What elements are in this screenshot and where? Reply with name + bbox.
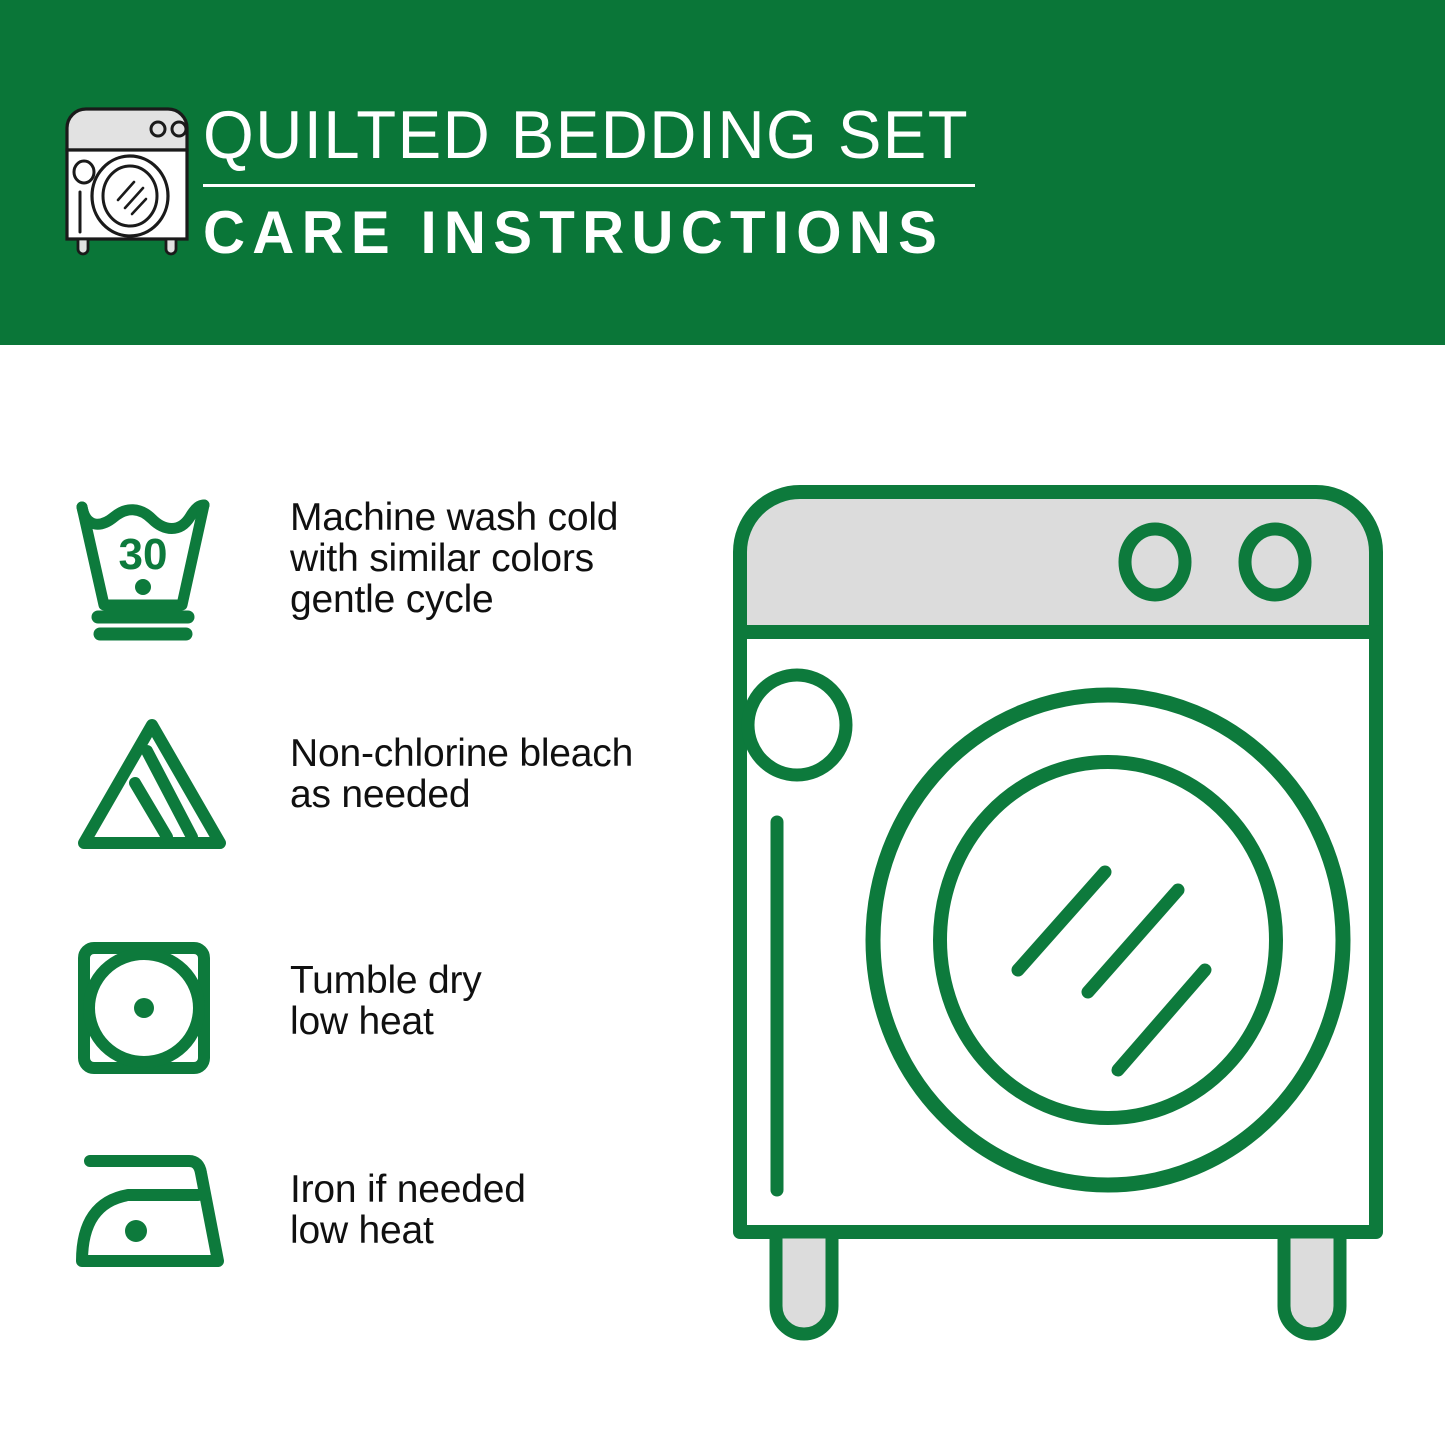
care-text-line: with similar colors: [290, 538, 618, 579]
care-text-line: Machine wash cold: [290, 497, 618, 538]
care-instruction-text: Iron if needed low heat: [290, 1145, 526, 1251]
washing-machine-icon: [62, 104, 192, 256]
machine-leg: [776, 1232, 832, 1334]
page-subtitle: CARE INSTRUCTIONS: [203, 200, 969, 266]
washing-machine-illustration: [718, 470, 1398, 1360]
iron-low-heat-icon: [72, 1145, 232, 1275]
wash-temperature-label: 30: [119, 530, 168, 579]
care-instruction-row: 30 Machine wash cold with similar colors…: [0, 493, 700, 641]
non-chlorine-bleach-triangle-icon: [72, 713, 232, 855]
care-text-line: low heat: [290, 1001, 482, 1042]
title-divider: [203, 184, 975, 187]
care-text-line: gentle cycle: [290, 579, 618, 620]
machine-leg: [1284, 1232, 1340, 1334]
tumble-dry-low-heat-icon: [72, 938, 232, 1078]
control-knob: [1125, 529, 1185, 595]
care-text-line: low heat: [290, 1210, 526, 1251]
care-instruction-list: 30 Machine wash cold with similar colors…: [0, 345, 700, 1445]
care-text-line: as needed: [290, 774, 633, 815]
care-text-line: Iron if needed: [290, 1169, 526, 1210]
page-title: QUILTED BEDDING SET: [203, 98, 961, 172]
care-instructions-page: QUILTED BEDDING SET CARE INSTRUCTIONS: [0, 0, 1445, 1445]
care-text-line: Non-chlorine bleach: [290, 733, 633, 774]
care-instruction-text: Tumble dry low heat: [290, 938, 482, 1042]
care-instruction-text: Non-chlorine bleach as needed: [290, 713, 633, 815]
header-text-block: QUILTED BEDDING SET CARE INSTRUCTIONS: [203, 98, 993, 266]
detergent-dispenser: [748, 675, 846, 775]
care-instruction-row: Non-chlorine bleach as needed: [0, 713, 700, 855]
control-knob: [1245, 529, 1305, 595]
care-instruction-row: Tumble dry low heat: [0, 938, 700, 1078]
care-text-line: Tumble dry: [290, 960, 482, 1001]
care-instruction-text: Machine wash cold with similar colors ge…: [290, 493, 618, 620]
header-band: QUILTED BEDDING SET CARE INSTRUCTIONS: [0, 0, 1445, 345]
door-inner-ring: [940, 762, 1276, 1118]
wash-tub-30-gentle-icon: 30: [72, 493, 232, 641]
care-instruction-row: Iron if needed low heat: [0, 1145, 700, 1275]
